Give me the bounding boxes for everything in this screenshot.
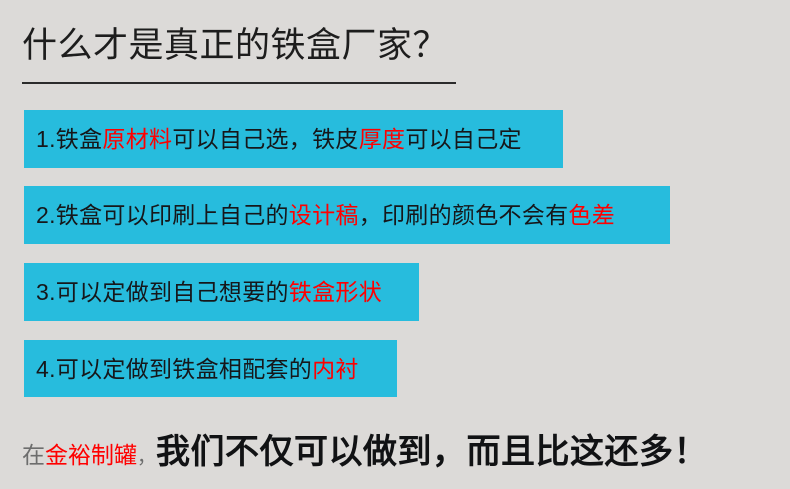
bullet-seg-2-1-highlight: 设计稿	[289, 202, 359, 228]
bullet-seg-1-3-highlight: 厚度	[359, 126, 406, 152]
bullet-index-1: 1.	[36, 126, 56, 152]
bullet-bar-4: 4.可以定做到铁盒相配套的内衬	[24, 340, 397, 397]
bullet-seg-2-0: 铁盒可以印刷上自己的	[56, 202, 289, 228]
bullet-seg-3-0: 可以定做到自己想要的	[56, 279, 289, 305]
bullet-seg-4-0: 可以定做到铁盒相配套的	[56, 356, 312, 382]
promo-banner: 什么才是真正的铁盒厂家？ 1.铁盒原材料可以自己选，铁皮厚度可以自己定 2.铁盒…	[0, 0, 790, 489]
bullet-text-4: 4.可以定做到铁盒相配套的内衬	[36, 356, 359, 382]
bullet-bar-1: 1.铁盒原材料可以自己选，铁皮厚度可以自己定	[24, 110, 563, 168]
bullet-index-2: 2.	[36, 202, 56, 228]
bullet-seg-1-0: 铁盒	[56, 126, 103, 152]
bullet-seg-4-1-highlight: 内衬	[312, 356, 359, 382]
footer-main-text: 我们不仅可以做到，而且比这还多！	[156, 432, 708, 472]
bullet-text-2: 2.铁盒可以印刷上自己的设计稿，印刷的颜色不会有色差	[36, 202, 615, 228]
bullet-index-3: 3.	[36, 279, 56, 305]
bullet-seg-2-2: ，印刷的颜色不会有	[359, 202, 569, 228]
bullet-seg-3-1-highlight: 铁盒形状	[289, 279, 382, 305]
bullet-bar-3: 3.可以定做到自己想要的铁盒形状	[24, 263, 419, 321]
page-title-block: 什么才是真正的铁盒厂家？	[22, 22, 462, 70]
bullet-seg-1-2: 可以自己选，铁皮	[172, 126, 358, 152]
footer-lead-text: 在	[22, 435, 45, 475]
page-title: 什么才是真正的铁盒厂家？	[22, 22, 462, 70]
bullet-bar-2: 2.铁盒可以印刷上自己的设计稿，印刷的颜色不会有色差	[24, 186, 670, 244]
bullet-index-4: 4.	[36, 356, 56, 382]
bullet-text-3: 3.可以定做到自己想要的铁盒形状	[36, 279, 382, 305]
bullet-text-1: 1.铁盒原材料可以自己选，铁皮厚度可以自己定	[36, 126, 522, 152]
bullet-seg-1-1-highlight: 原材料	[102, 126, 172, 152]
title-divider	[22, 82, 456, 84]
footer-comma: ，	[137, 438, 156, 478]
footer-brand-name: 金裕制罐	[45, 435, 137, 475]
bullet-seg-2-3-highlight: 色差	[568, 202, 615, 228]
footer-line: 在金裕制罐，我们不仅可以做到，而且比这还多！	[22, 432, 708, 478]
bullet-seg-1-4: 可以自己定	[405, 126, 522, 152]
